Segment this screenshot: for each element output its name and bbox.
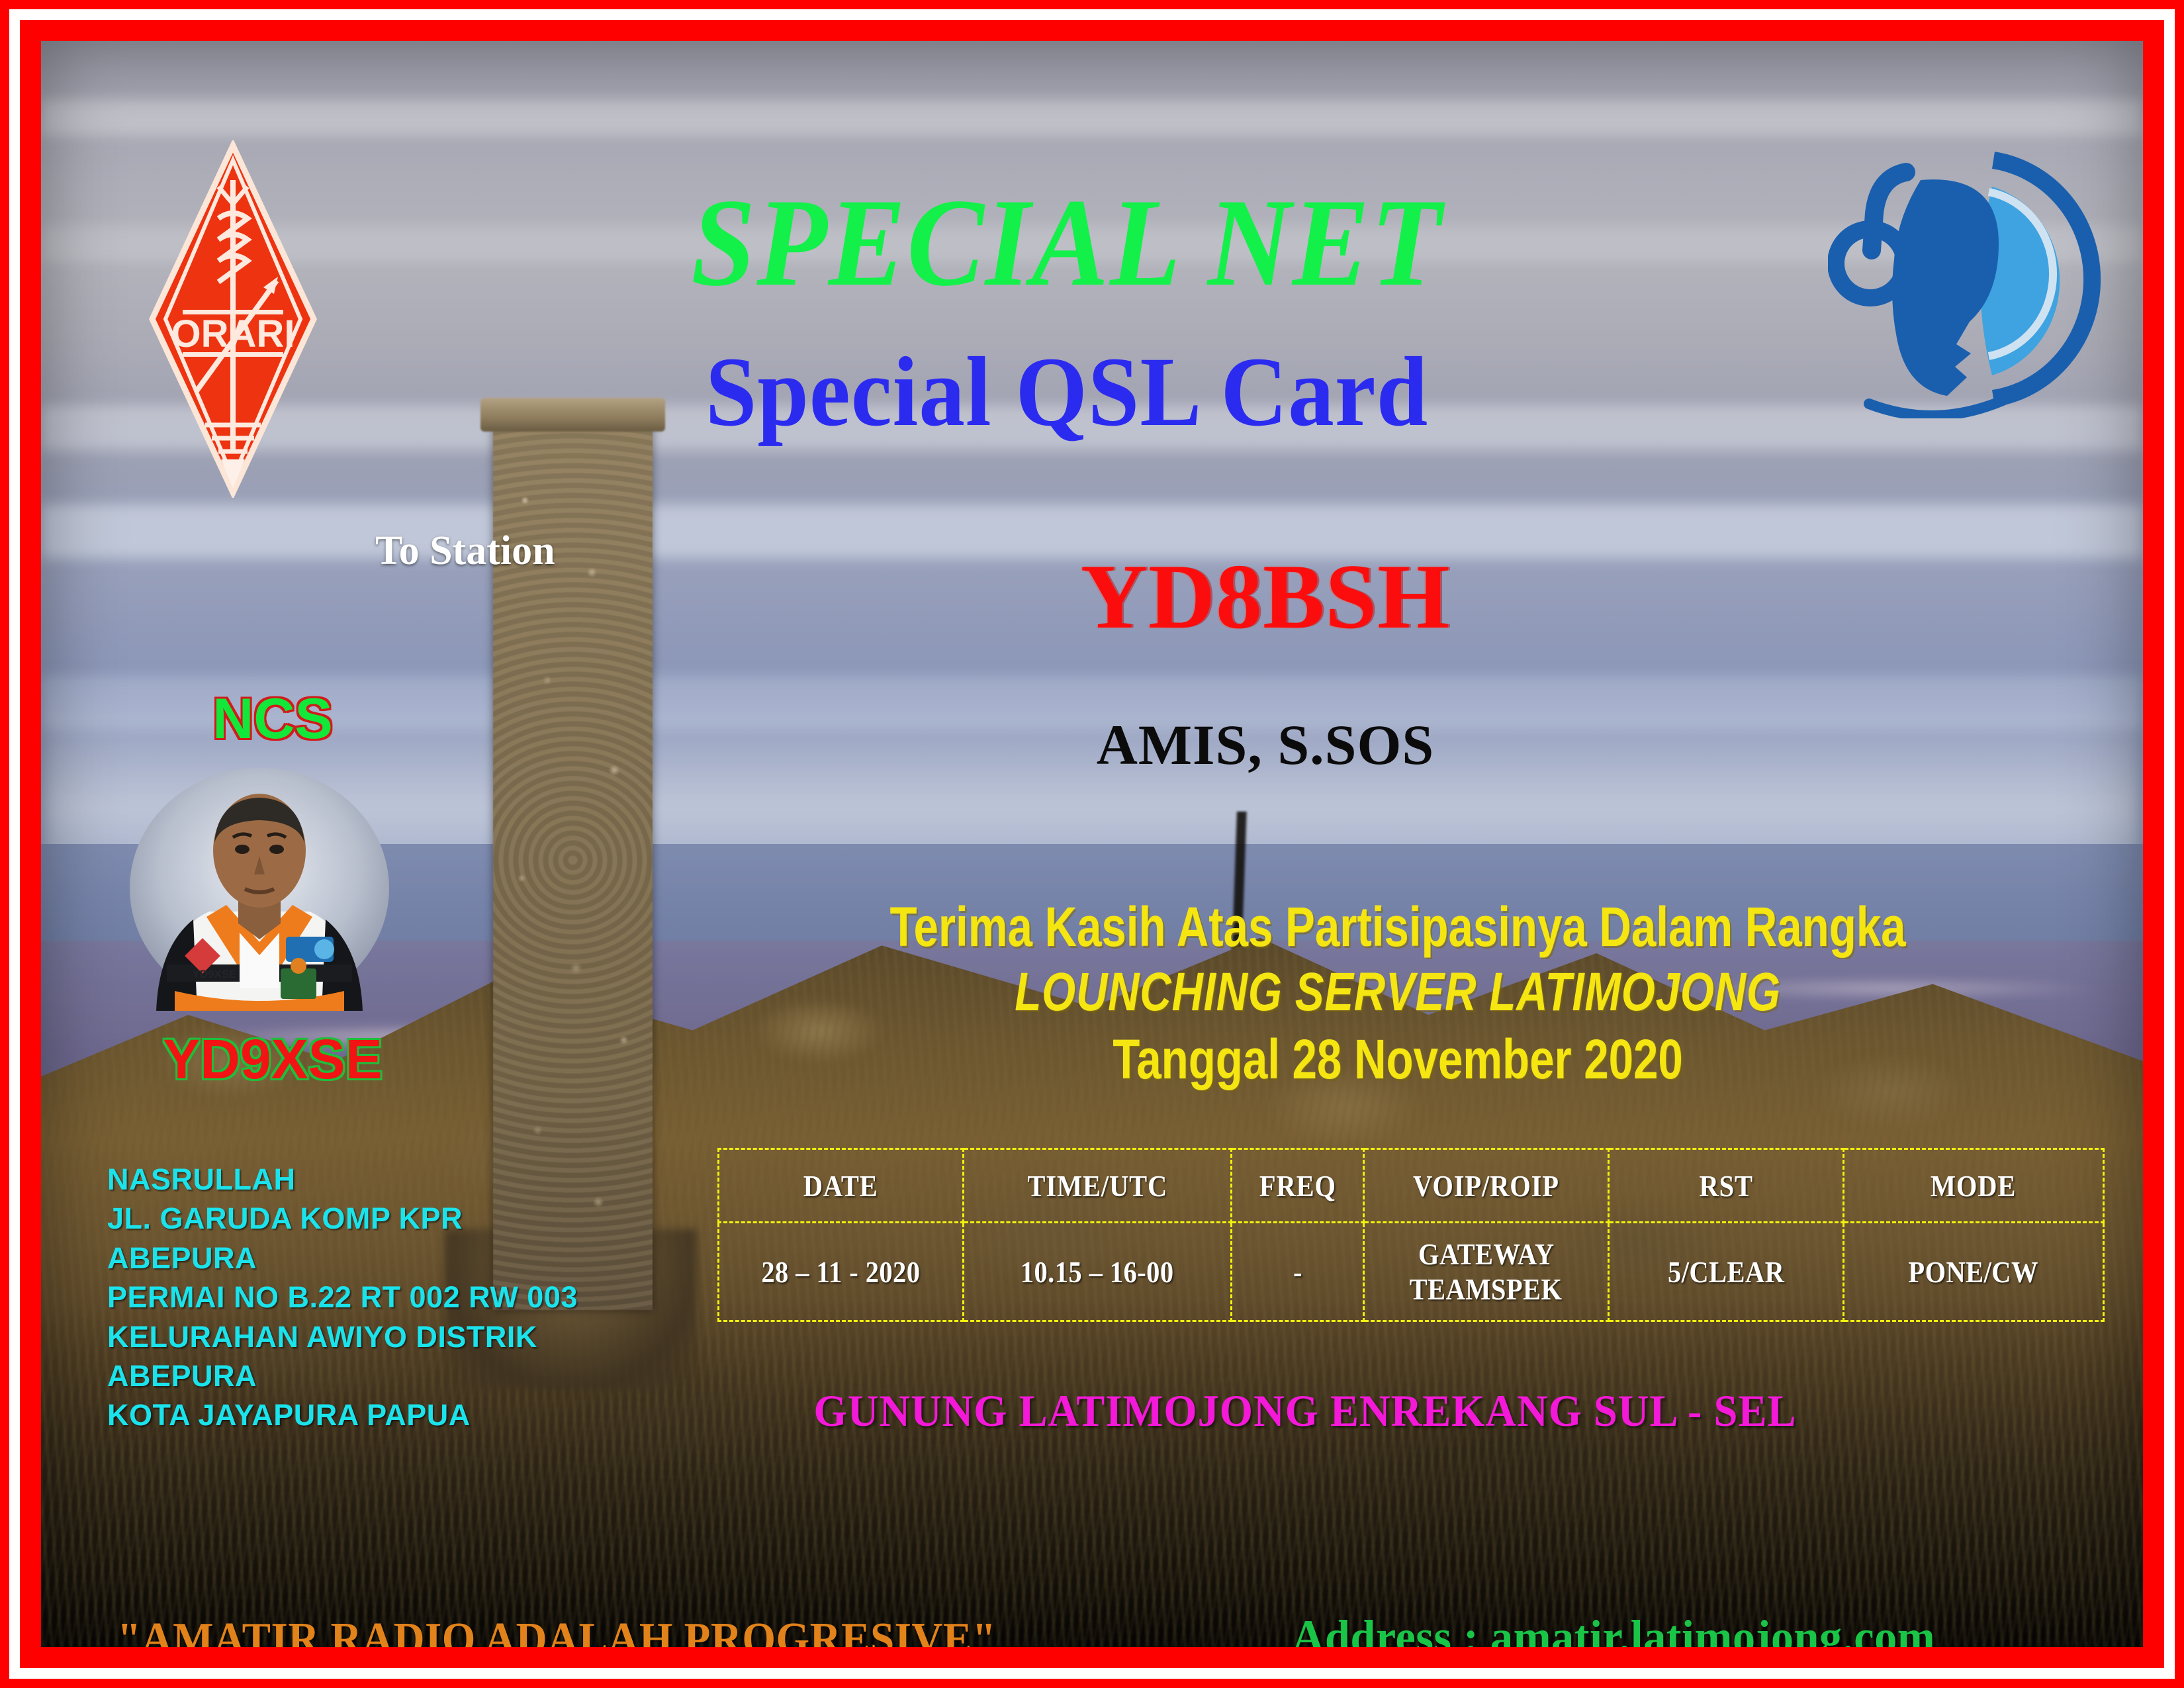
column-header-time: TIME/UTC xyxy=(964,1149,1232,1223)
address-block: NASRULLAH JL. GARUDA KOMP KPR ABEPURA PE… xyxy=(107,1160,657,1435)
address-line: ABEPURA xyxy=(107,1356,657,1395)
content-layer: ORARI SPECIAL NET Special QSL Card xyxy=(41,41,2143,1647)
footer-slogan: "AMATIR RADIO ADALAH PROGRESIVE" xyxy=(117,1613,996,1647)
headset-face-logo-icon xyxy=(1828,140,2106,418)
cell-time: 10.15 – 16-00 xyxy=(964,1223,1232,1321)
column-header-freq: FREQ xyxy=(1232,1149,1364,1223)
column-header-voip: VOIP/ROIP xyxy=(1364,1149,1609,1223)
orari-logo-text: ORARI xyxy=(171,312,295,355)
footer-address: Address : amatir.latimojong.com xyxy=(1292,1610,1935,1647)
ncs-callsign: YD9XSE xyxy=(107,1027,438,1092)
card-photo-background: ORARI SPECIAL NET Special QSL Card xyxy=(41,41,2143,1647)
cell-mode: PONE/CW xyxy=(1844,1223,2104,1321)
column-header-mode: MODE xyxy=(1844,1149,2104,1223)
column-header-rst: RST xyxy=(1609,1149,1844,1223)
qsl-card: ORARI SPECIAL NET Special QSL Card xyxy=(0,0,2184,1688)
ncs-operator-photo: YD9XSE xyxy=(127,766,392,1011)
thanks-line-1: Terima Kasih Atas Partisipasinya Dalam R… xyxy=(821,895,1975,959)
orari-logo-icon: ORARI xyxy=(147,140,319,498)
address-line: KELURAHAN AWIYO DISTRIK xyxy=(107,1317,657,1356)
cell-freq: - xyxy=(1232,1223,1364,1321)
address-line: NASRULLAH xyxy=(107,1160,657,1199)
station-callsign: YD8BSH xyxy=(934,551,1596,643)
uniform-badge-text: YD9XSE xyxy=(192,968,236,980)
page-title: SPECIAL NET xyxy=(488,180,1645,306)
cell-date: 28 – 11 - 2020 xyxy=(719,1223,964,1321)
address-line: ABEPURA xyxy=(107,1239,657,1278)
ncs-label: NCS xyxy=(160,686,385,752)
operator-name: AMIS, S.SOS xyxy=(934,716,1596,773)
to-station-label: To Station xyxy=(375,528,555,575)
thanks-line-2: LOUNCHING SERVER LATIMOJONG xyxy=(821,961,1975,1023)
address-line: PERMAI NO B.22 RT 002 RW 003 xyxy=(107,1278,657,1317)
thanks-line-3: Tanggal 28 November 2020 xyxy=(821,1027,1975,1092)
page-subtitle: Special QSL Card xyxy=(482,342,1652,442)
qso-log-table: DATE TIME/UTC FREQ VOIP/ROIP RST MODE 28… xyxy=(717,1148,2105,1322)
address-line: KOTA JAYAPURA PAPUA xyxy=(107,1395,657,1434)
table-header-row: DATE TIME/UTC FREQ VOIP/ROIP RST MODE xyxy=(719,1149,2104,1223)
column-header-date: DATE xyxy=(719,1149,964,1223)
location-label: GUNUNG LATIMOJONG ENREKANG SUL - SEL xyxy=(708,1385,1903,1437)
cell-voip: GATEWAY TEAMSPEK xyxy=(1364,1223,1609,1321)
cell-rst: 5/CLEAR xyxy=(1609,1223,1844,1321)
address-line: JL. GARUDA KOMP KPR xyxy=(107,1199,657,1238)
table-row: 28 – 11 - 2020 10.15 – 16-00 - GATEWAY T… xyxy=(719,1223,2104,1321)
